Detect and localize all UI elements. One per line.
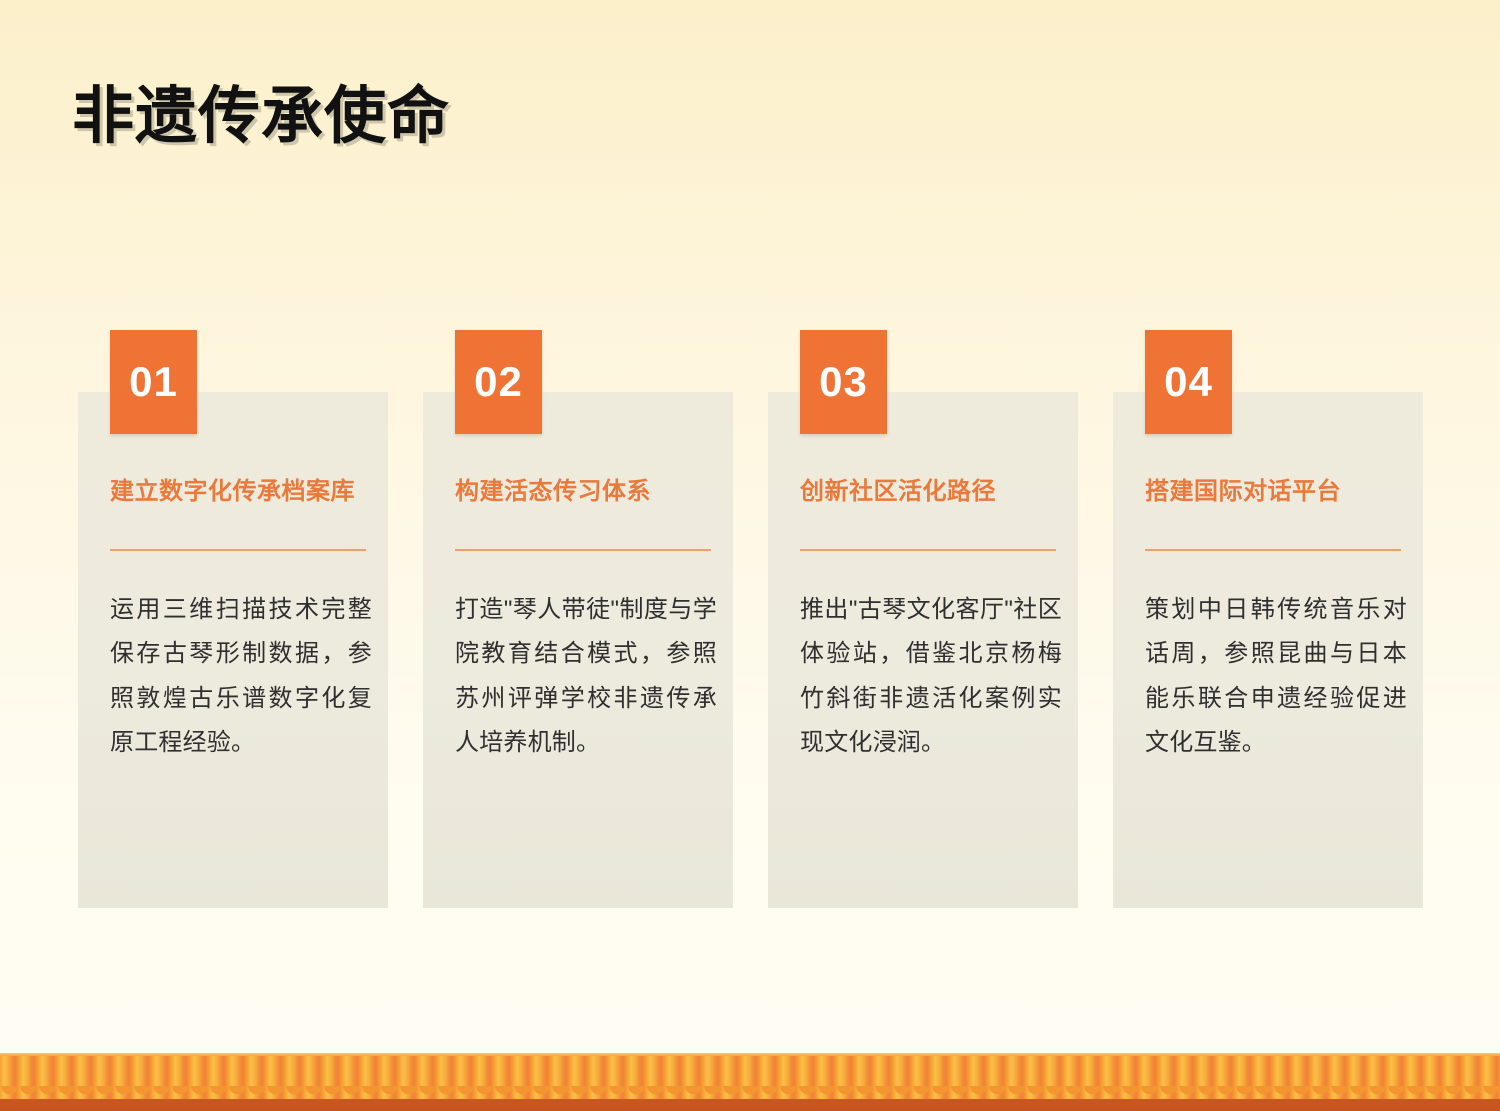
card-divider — [800, 549, 1056, 551]
mission-card[interactable]: 01 建立数字化传承档案库 运用三维扫描技术完整保存古琴形制数据，参照敦煌古乐谱… — [78, 330, 388, 908]
card-heading: 构建活态传习体系 — [455, 478, 713, 507]
page-title: 非遗传承使命 — [72, 84, 450, 151]
card-divider — [110, 549, 366, 551]
card-description: 策划中日韩传统音乐对话周，参照昆曲与日本能乐联合申遗经验促进文化互鉴。 — [1145, 588, 1407, 766]
mission-card[interactable]: 04 搭建国际对话平台 策划中日韩传统音乐对话周，参照昆曲与日本能乐联合申遗经验… — [1113, 330, 1423, 908]
mission-card[interactable]: 03 创新社区活化路径 推出"古琴文化客厅"社区体验站，借鉴北京杨梅竹斜街非遗活… — [768, 330, 1078, 908]
card-heading: 建立数字化传承档案库 — [110, 478, 368, 507]
card-description: 推出"古琴文化客厅"社区体验站，借鉴北京杨梅竹斜街非遗活化案例实现文化浸润。 — [800, 588, 1062, 766]
card-heading: 搭建国际对话平台 — [1145, 478, 1403, 507]
slide-canvas: 非遗传承使命 01 建立数字化传承档案库 运用三维扫描技术完整保存古琴形制数据，… — [0, 0, 1500, 1111]
strip-top-highlight — [0, 1053, 1500, 1056]
card-description: 打造"琴人带徒"制度与学院教育结合模式，参照苏州评弹学校非遗传承人培养机制。 — [455, 588, 717, 766]
mission-card[interactable]: 02 构建活态传习体系 打造"琴人带徒"制度与学院教育结合模式，参照苏州评弹学校… — [423, 330, 733, 908]
card-number-badge: 04 — [1145, 330, 1232, 434]
bottom-decorative-border — [0, 1053, 1500, 1111]
card-heading: 创新社区活化路径 — [800, 478, 1058, 507]
cards-row: 01 建立数字化传承档案库 运用三维扫描技术完整保存古琴形制数据，参照敦煌古乐谱… — [78, 330, 1422, 910]
card-number-badge: 03 — [800, 330, 887, 434]
card-divider — [455, 549, 711, 551]
card-number-badge: 02 — [455, 330, 542, 434]
card-number-badge: 01 — [110, 330, 197, 434]
card-description: 运用三维扫描技术完整保存古琴形制数据，参照敦煌古乐谱数字化复原工程经验。 — [110, 588, 372, 766]
card-divider — [1145, 549, 1401, 551]
strip-teeth-pattern — [0, 1053, 1500, 1099]
